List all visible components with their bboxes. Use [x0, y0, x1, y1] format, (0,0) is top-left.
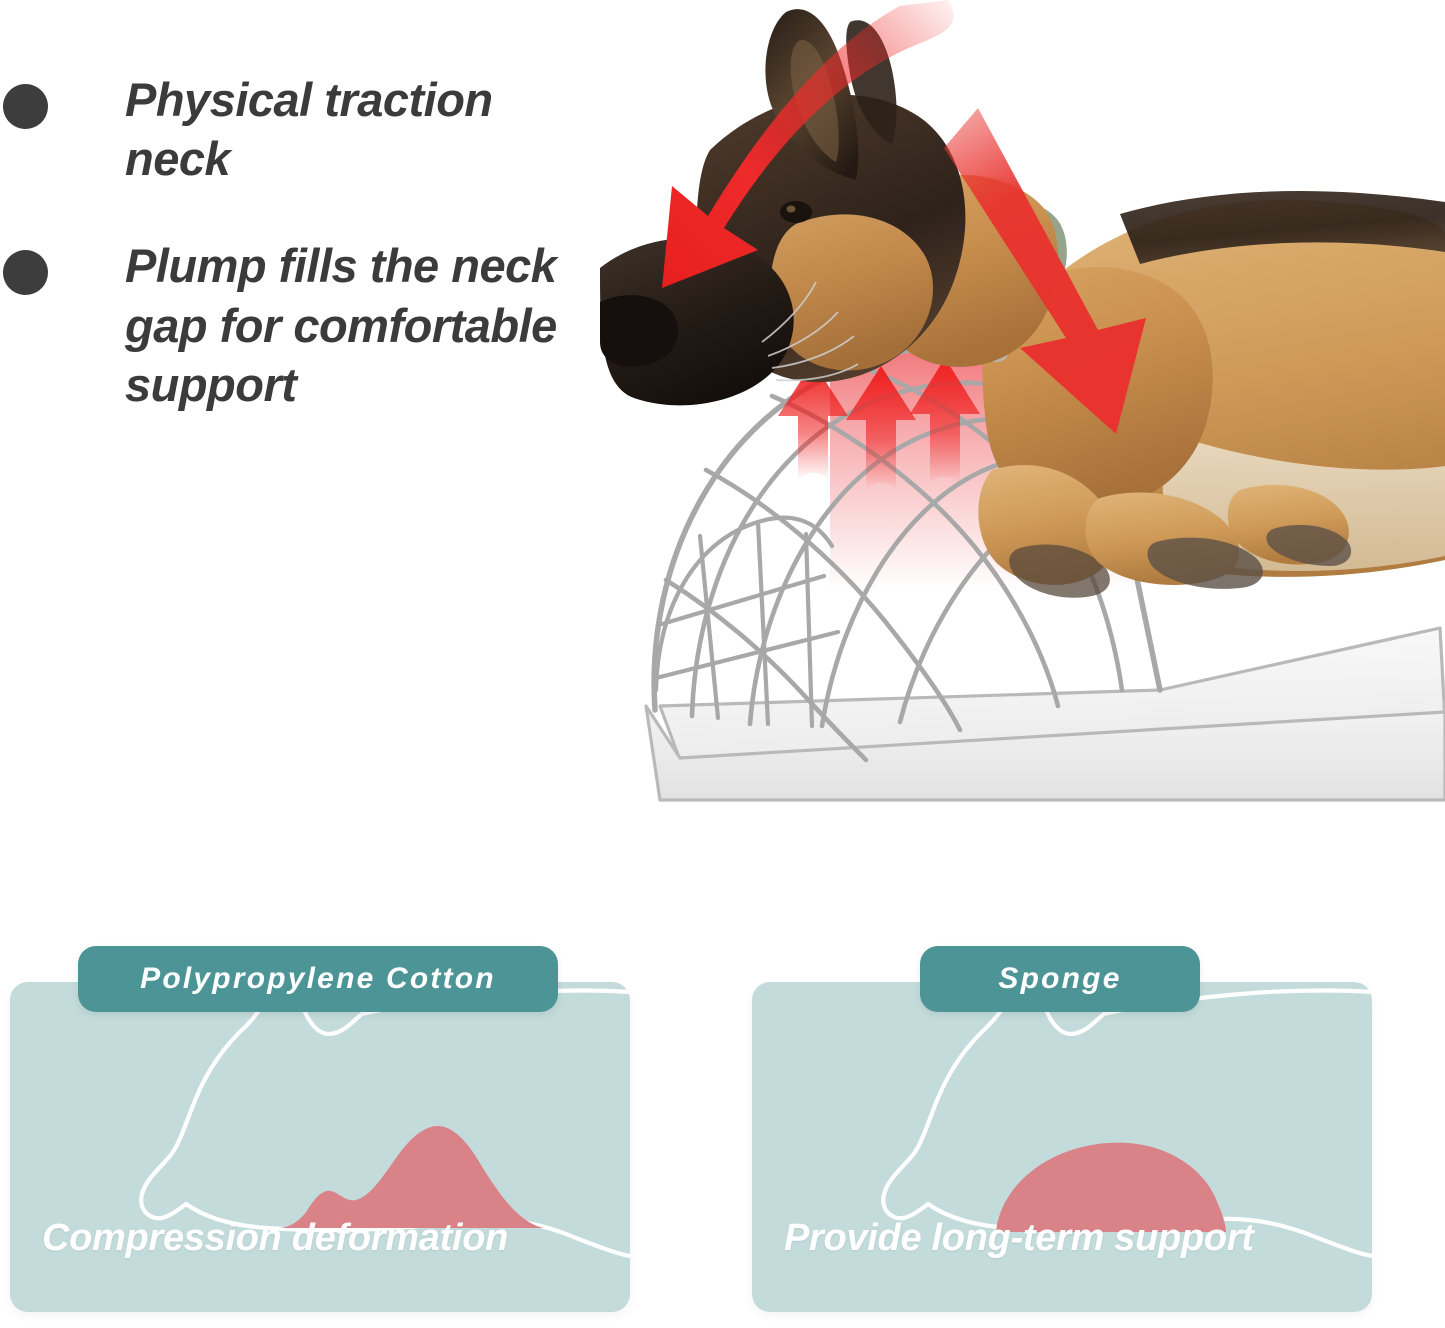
german-shepherd-photo [600, 9, 1445, 598]
compressed-filling-shape [278, 1126, 544, 1228]
infographic-page: Physical traction neck Plump fills the n… [0, 0, 1445, 1328]
feature-bullet-label: Physical traction neck [125, 70, 595, 188]
panel-card [752, 982, 1372, 1312]
panel-caption: Provide long-term support [784, 1217, 1254, 1260]
panel-badge-material: Polypropylene Cotton [78, 946, 558, 1012]
feature-bullet-item: Plump fills the neck gap for comfortable… [0, 236, 690, 414]
comparison-panel-polypropylene: Polypropylene Cotton Compression deforma… [10, 982, 630, 1312]
panel-illustration-supported [752, 982, 1372, 1312]
comparison-panel-sponge: Sponge Provide long-term support [752, 982, 1372, 1312]
hero-illustration [600, 0, 1445, 830]
dog-eye [780, 201, 812, 223]
bullet-dot-icon [3, 250, 48, 295]
panel-caption: Compression deformation [42, 1217, 508, 1260]
feature-bullet-list: Physical traction neck Plump fills the n… [0, 70, 690, 462]
panel-badge-material: Sponge [920, 946, 1200, 1012]
feature-bullet-item: Physical traction neck [0, 70, 690, 188]
feature-bullet-label: Plump fills the neck gap for comfortable… [125, 236, 595, 414]
bullet-dot-icon [3, 84, 48, 129]
panel-illustration-compressed [10, 982, 630, 1312]
panel-card [10, 982, 630, 1312]
